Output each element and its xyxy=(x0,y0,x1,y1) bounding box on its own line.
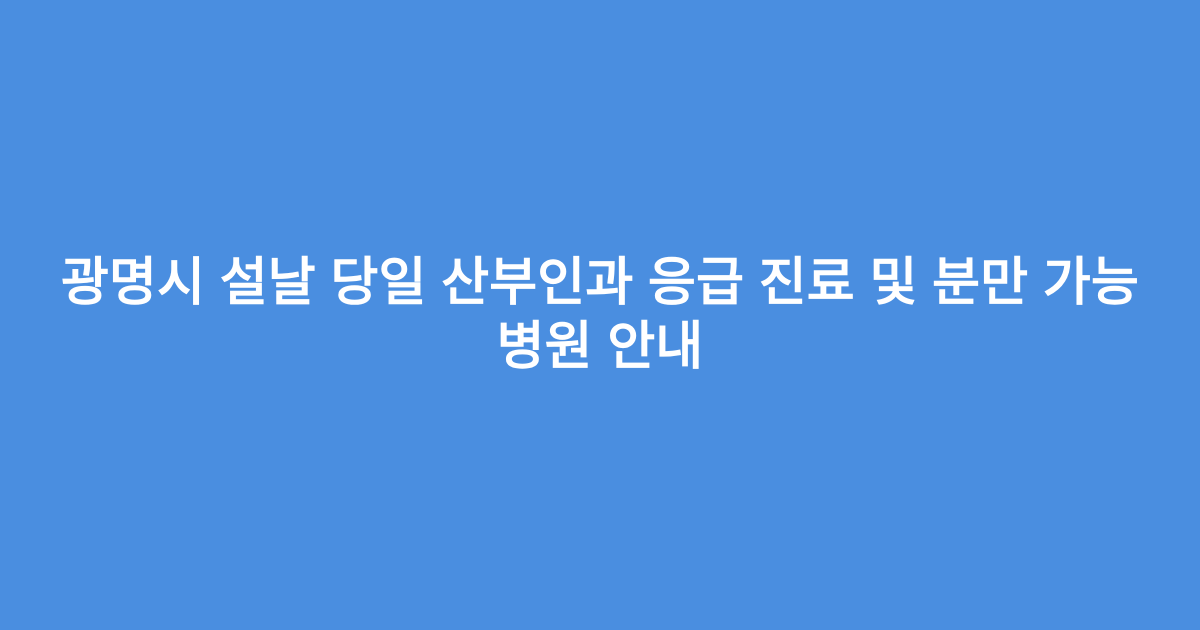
title-block: 광명시 설날 당일 산부인과 응급 진료 및 분만 가능 병원 안내 xyxy=(0,251,1200,379)
page-title: 광명시 설날 당일 산부인과 응급 진료 및 분만 가능 병원 안내 xyxy=(56,251,1144,379)
share-card: 광명시 설날 당일 산부인과 응급 진료 및 분만 가능 병원 안내 xyxy=(0,0,1200,630)
